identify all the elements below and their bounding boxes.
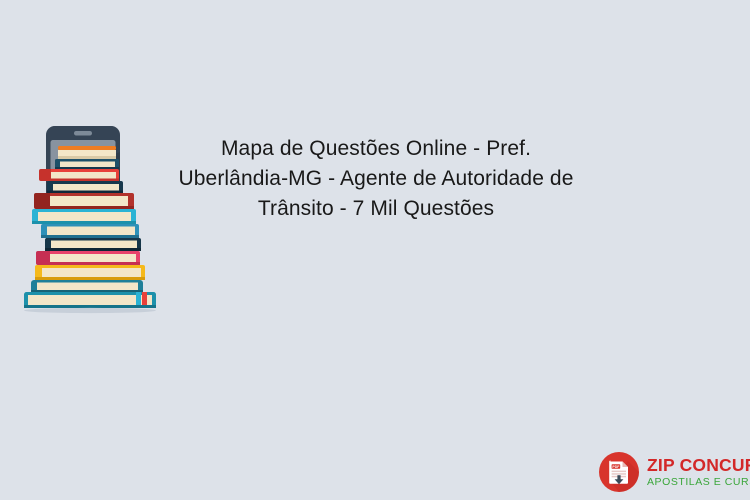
book-orange-top <box>58 146 116 159</box>
page-title: Mapa de Questões Online - Pref. Uberlând… <box>168 134 584 224</box>
svg-text:PDF: PDF <box>612 465 620 469</box>
book-maroon-5 <box>34 193 134 209</box>
pdf-download-circle-icon: PDF <box>598 451 640 493</box>
book-navy-4 <box>47 181 123 193</box>
page-title-text: Mapa de Questões Online - Pref. Uberlând… <box>168 134 584 224</box>
poster-canvas: Mapa de Questões Online - Pref. Uberlând… <box>0 0 750 500</box>
book-cyan-6 <box>32 209 136 224</box>
book-teal-11 <box>31 280 143 293</box>
book-yellow-10 <box>35 265 145 280</box>
books-illustration <box>14 122 170 314</box>
logo-subtitle: APOSTILAS E CURSOS <box>647 477 750 488</box>
zip-concursos-logo[interactable]: PDF ZIP CONCURSOS APOSTILAS E CURSOS <box>598 450 738 494</box>
book-red-3 <box>39 169 119 181</box>
book-base-teal <box>24 292 156 308</box>
book-steelblue-7 <box>41 224 139 238</box>
book-navy-8 <box>45 238 141 251</box>
book-pink-9 <box>36 251 140 265</box>
book-navy-2 <box>55 159 119 170</box>
logo-title: ZIP CONCURSOS <box>647 457 750 475</box>
logo-wordmark: ZIP CONCURSOS APOSTILAS E CURSOS <box>647 457 750 488</box>
